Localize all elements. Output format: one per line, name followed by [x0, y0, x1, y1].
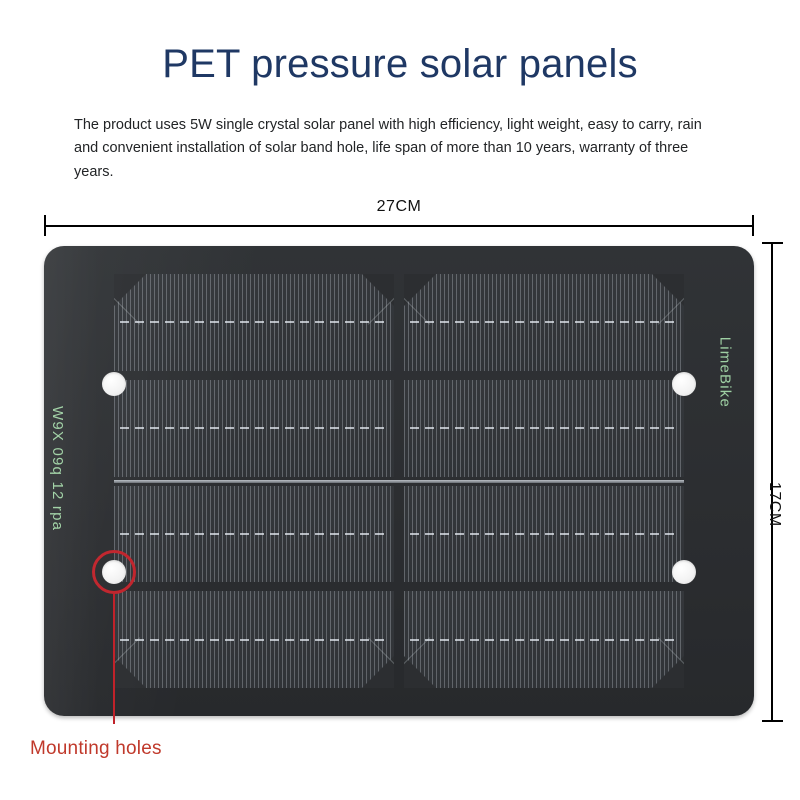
cell-busbar	[120, 639, 388, 641]
page-title: PET pressure solar panels	[0, 42, 800, 86]
solar-cell	[114, 380, 394, 477]
cell-row	[114, 591, 684, 688]
callout-leader-line	[113, 594, 115, 724]
solar-cell	[404, 486, 684, 583]
cell-chamfer-bl	[404, 655, 437, 688]
product-spec-image: PET pressure solar panels The product us…	[0, 0, 800, 800]
cell-busbar	[410, 427, 678, 429]
height-dimension-label: 17CM	[765, 482, 783, 527]
product-description: The product uses 5W single crystal solar…	[74, 114, 724, 184]
width-dimension-label: 27CM	[44, 198, 754, 216]
width-dimension-tick-left	[44, 215, 46, 236]
panel-label-right: LimeBike	[716, 337, 733, 408]
cell-row	[114, 380, 684, 477]
solar-cell	[404, 591, 684, 688]
solar-panel: W9X 09q 12 rpa LimeBike	[44, 246, 754, 716]
cell-busbar	[410, 533, 678, 535]
panel-label-left: W9X 09q 12 rpa	[49, 406, 66, 531]
cell-row	[114, 486, 684, 583]
solar-cell	[114, 486, 394, 583]
width-dimension: 27CM	[44, 198, 754, 238]
mounting-hole-top-right	[672, 372, 696, 396]
interconnect-ribbon	[114, 480, 684, 483]
mounting-hole-highlight-ring	[92, 550, 136, 594]
cell-busbar	[410, 639, 678, 641]
cell-busbar	[120, 321, 388, 323]
solar-cell	[404, 274, 684, 371]
cell-busbar	[410, 321, 678, 323]
height-dimension-tick-top	[762, 242, 783, 244]
height-dimension: 17CM	[762, 242, 800, 722]
cell-busbar	[120, 427, 388, 429]
cell-chamfer-bl	[114, 655, 147, 688]
mounting-hole-bottom-right	[672, 560, 696, 584]
cell-row	[114, 274, 684, 371]
mounting-holes-callout: Mounting holes	[30, 738, 162, 760]
height-dimension-tick-bottom	[762, 720, 783, 722]
width-dimension-line	[44, 225, 754, 227]
width-dimension-tick-right	[752, 215, 754, 236]
solar-cell	[114, 591, 394, 688]
solar-cell	[114, 274, 394, 371]
solar-cell	[404, 380, 684, 477]
mounting-hole-top-left	[102, 372, 126, 396]
cell-busbar	[120, 533, 388, 535]
